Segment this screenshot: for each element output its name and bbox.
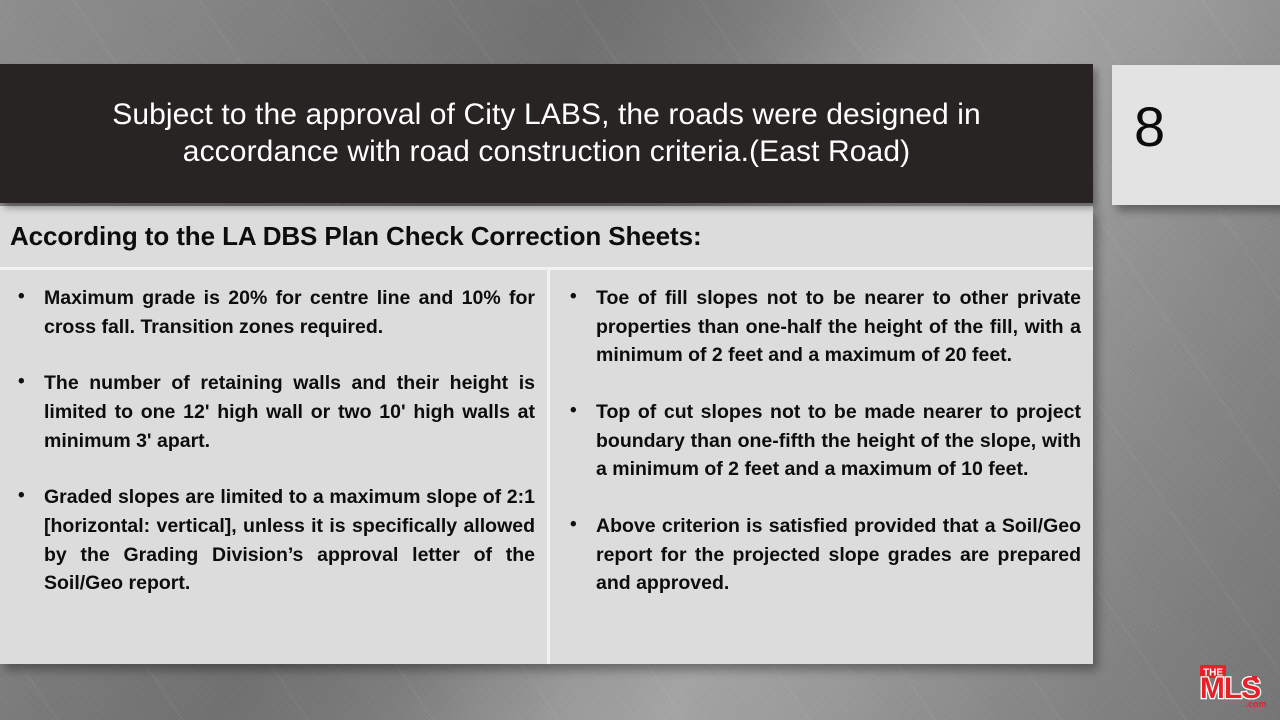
left-column: Maximum grade is 20% for centre line and… — [0, 270, 547, 664]
list-item: Top of cut slopes not to be made nearer … — [562, 398, 1081, 484]
slide-title: Subject to the approval of City LABS, th… — [67, 97, 1027, 170]
list-item: Toe of fill slopes not to be nearer to o… — [562, 284, 1081, 370]
list-item: Above criterion is satisfied provided th… — [562, 512, 1081, 598]
the-mls-logo: THE MLS .com — [1196, 662, 1270, 712]
list-item: Maximum grade is 20% for centre line and… — [10, 284, 535, 341]
slide-canvas: Subject to the approval of City LABS, th… — [0, 0, 1280, 720]
list-item: Graded slopes are limited to a maximum s… — [10, 483, 535, 598]
subheading-row: According to the LA DBS Plan Check Corre… — [0, 206, 1093, 270]
right-column: Toe of fill slopes not to be nearer to o… — [547, 270, 1093, 664]
right-bullet-list: Toe of fill slopes not to be nearer to o… — [562, 284, 1081, 598]
list-item: The number of retaining walls and their … — [10, 369, 535, 455]
content-panel: According to the LA DBS Plan Check Corre… — [0, 206, 1093, 664]
two-column-body: Maximum grade is 20% for centre line and… — [0, 270, 1093, 664]
content-subheading: According to the LA DBS Plan Check Corre… — [10, 221, 702, 252]
left-bullet-list: Maximum grade is 20% for centre line and… — [10, 284, 535, 598]
page-number: 8 — [1134, 99, 1165, 155]
title-banner: Subject to the approval of City LABS, th… — [0, 64, 1093, 203]
the-mls-logo-icon: THE MLS .com — [1196, 662, 1270, 712]
page-number-plate: 8 — [1112, 65, 1280, 205]
logo-com-text: .com — [1245, 699, 1266, 709]
